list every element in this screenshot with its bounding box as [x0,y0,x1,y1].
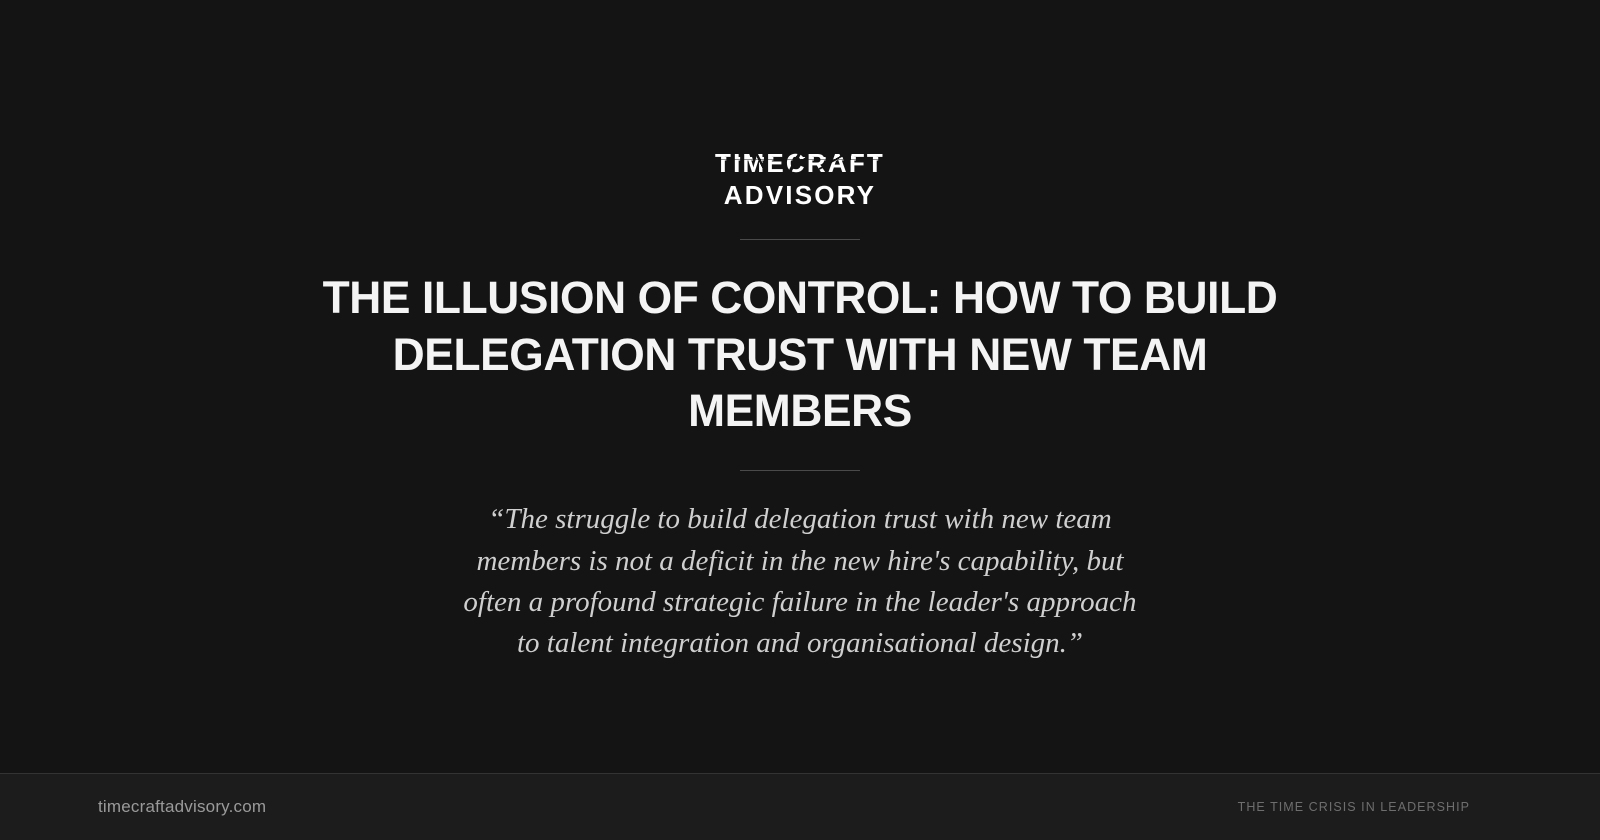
presentation-slide: TIMECRAFT ADVISORY THE ILLUSION OF CONTR… [0,0,1600,840]
slide-headline: THE ILLUSION OF CONTROL: HOW TO BUILD DE… [288,270,1312,440]
brand-name-secondary: ADVISORY [715,182,885,208]
brand-lockup: TIMECRAFT ADVISORY [715,150,885,208]
pull-quote: “The struggle to build delegation trust … [450,499,1150,665]
footer-series-title: THE TIME CRISIS IN LEADERSHIP [1238,800,1470,814]
brand-name-primary: TIMECRAFT [715,150,885,176]
slide-footer: timecraftadvisory.com THE TIME CRISIS IN… [0,773,1600,840]
slide-content: TIMECRAFT ADVISORY THE ILLUSION OF CONTR… [0,0,1600,773]
divider-above-headline [740,239,860,240]
divider-below-headline [740,470,860,471]
footer-website-url: timecraftadvisory.com [98,797,266,817]
